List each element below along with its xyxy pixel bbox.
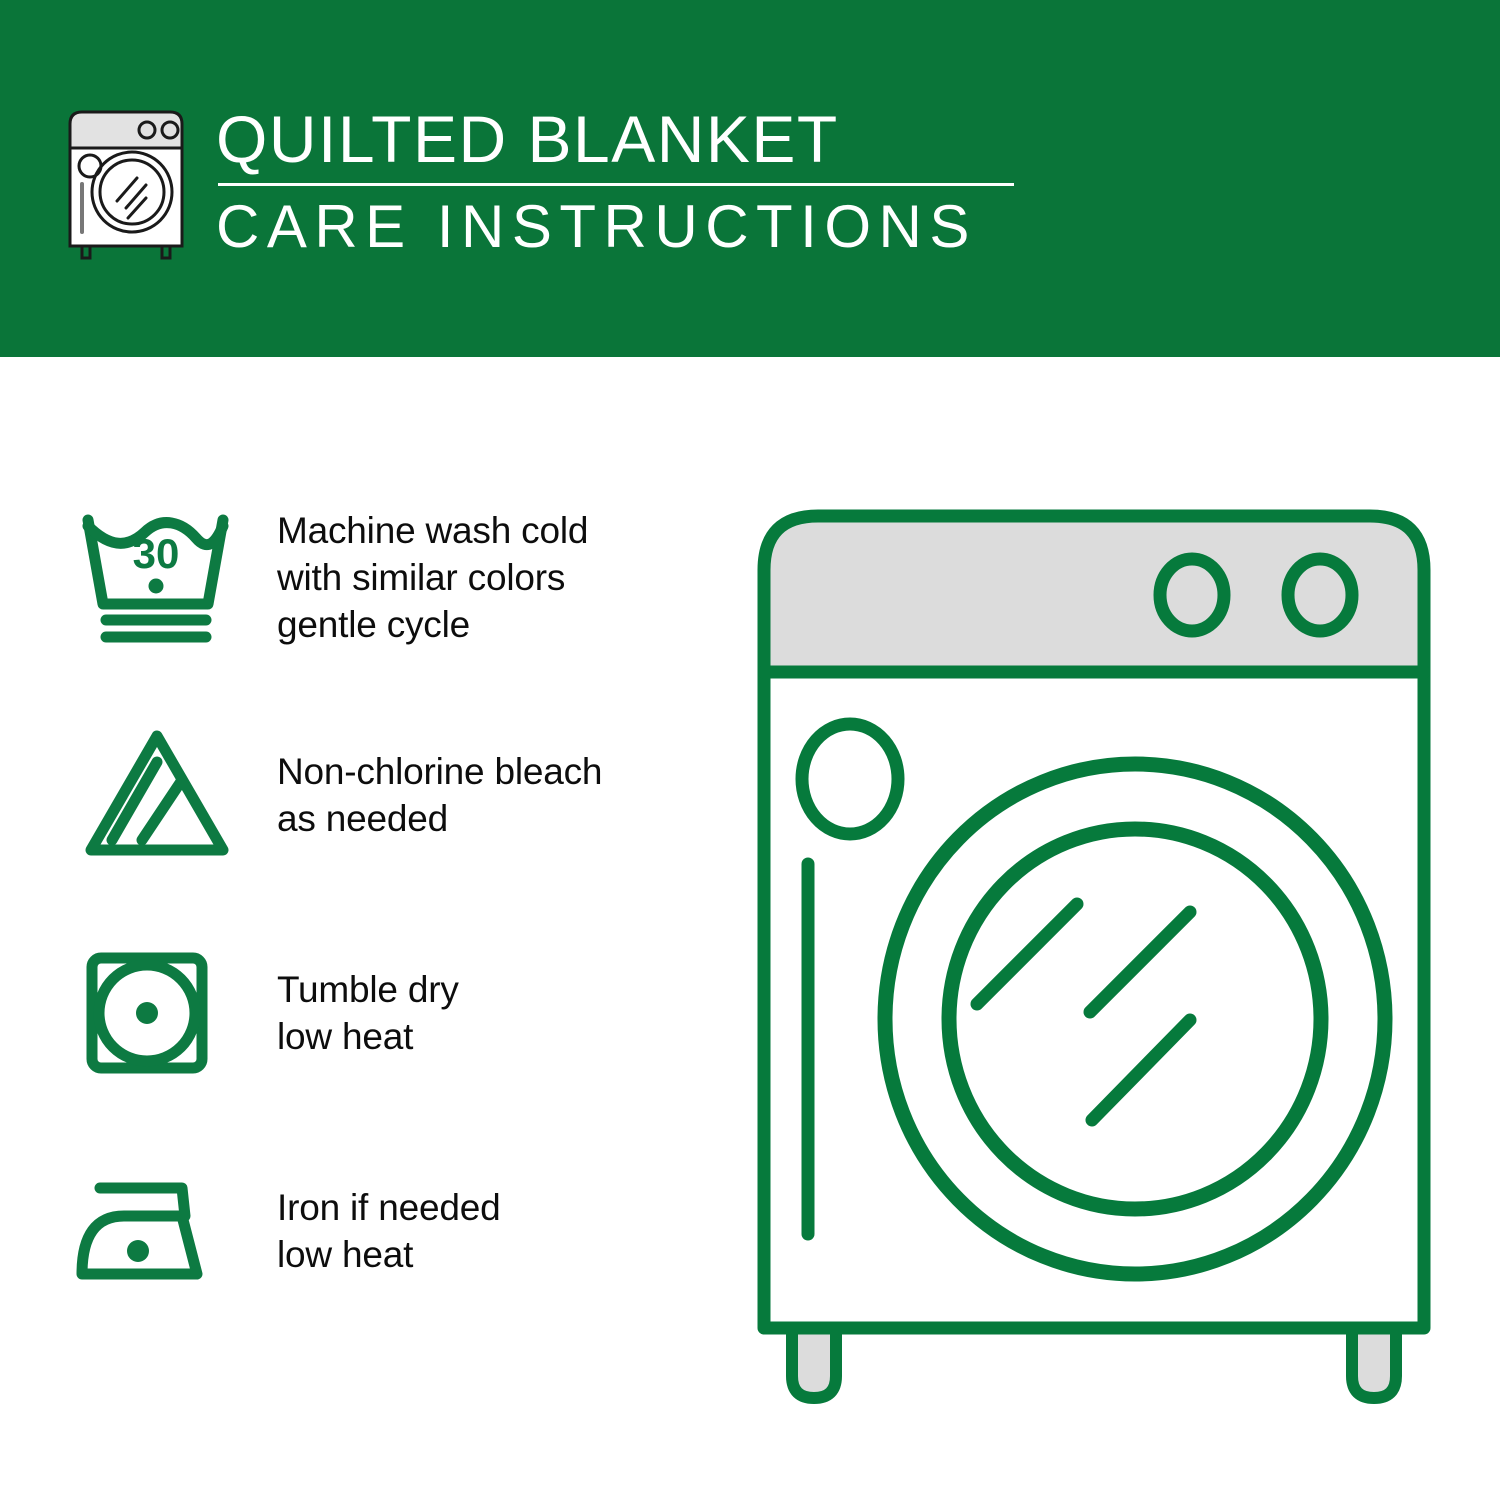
header-banner: QUILTED BLANKET CARE INSTRUCTIONS bbox=[0, 0, 1500, 357]
wash-tub-30-gentle-icon: 30 bbox=[70, 500, 245, 655]
washing-machine-icon bbox=[60, 104, 192, 264]
list-item: Tumble dry low heat bbox=[70, 933, 710, 1093]
page-subtitle: CARE INSTRUCTIONS bbox=[216, 192, 1016, 262]
list-item: Non-chlorine bleach as needed bbox=[70, 715, 710, 875]
indicator-dial bbox=[802, 724, 898, 834]
front-load-washing-machine-illustration bbox=[740, 492, 1460, 1442]
care-label: Tumble dry low heat bbox=[245, 966, 459, 1060]
care-symbol-list: 30 Machine wash cold with similar colors… bbox=[70, 497, 710, 1311]
title-divider bbox=[218, 183, 1014, 186]
drum-inner-ring bbox=[949, 829, 1321, 1209]
control-knob-left bbox=[1160, 559, 1224, 631]
iron-low-heat-icon bbox=[70, 1154, 245, 1309]
care-label: Iron if needed low heat bbox=[245, 1184, 500, 1278]
content-area: 30 Machine wash cold with similar colors… bbox=[0, 357, 1500, 1500]
care-label: Non-chlorine bleach as needed bbox=[245, 748, 602, 842]
care-label: Machine wash cold with similar colors ge… bbox=[245, 507, 588, 648]
list-item: 30 Machine wash cold with similar colors… bbox=[70, 497, 710, 657]
wash-temperature-value: 30 bbox=[133, 530, 180, 577]
care-instructions-page: QUILTED BLANKET CARE INSTRUCTIONS bbox=[0, 0, 1500, 1500]
list-item: Iron if needed low heat bbox=[70, 1151, 710, 1311]
tumble-dry-low-heat-icon bbox=[70, 936, 245, 1091]
control-knob-right bbox=[1288, 559, 1352, 631]
non-chlorine-bleach-triangle-icon bbox=[70, 718, 245, 873]
page-title: QUILTED BLANKET bbox=[216, 100, 1016, 178]
header-titles: QUILTED BLANKET CARE INSTRUCTIONS bbox=[216, 100, 1016, 262]
